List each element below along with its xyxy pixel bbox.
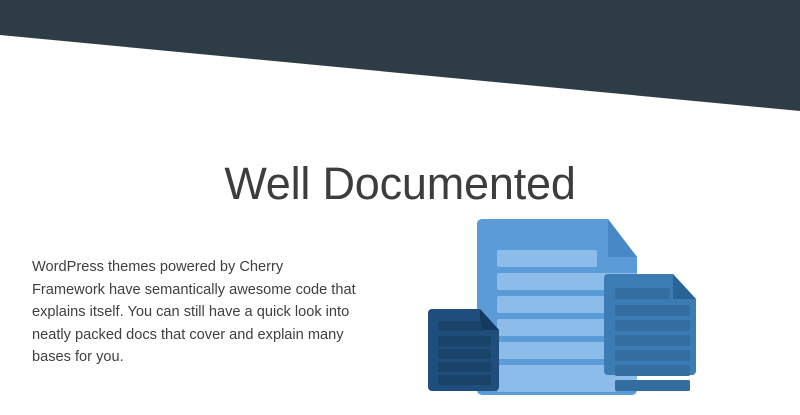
left-document-line: [438, 349, 491, 359]
banner-polygon: [0, 0, 800, 111]
right-document-line: [615, 365, 690, 376]
right-document: [604, 274, 696, 391]
left-document-line: [438, 362, 491, 372]
documents-illustration: [415, 210, 715, 415]
left-document-line: [438, 336, 491, 346]
main-document-fold-icon: [608, 219, 637, 257]
right-document-line: [615, 380, 690, 391]
page-title: Well Documented: [0, 158, 800, 210]
main-document-line: [497, 250, 597, 267]
angled-dark-banner: [0, 0, 800, 130]
body-paragraph: WordPress themes powered by Cherry Frame…: [32, 256, 358, 369]
right-document-line: [615, 305, 690, 316]
right-document-line: [615, 335, 690, 346]
left-document-line: [438, 375, 491, 385]
left-document: [428, 309, 499, 391]
page-root: Well Documented WordPress themes powered…: [0, 0, 800, 415]
main-document-line: [497, 380, 617, 392]
left-document-line: [438, 321, 482, 331]
right-document-line: [615, 320, 690, 331]
right-document-line: [615, 288, 670, 299]
documents-illustration-svg: [415, 210, 715, 415]
right-document-line: [615, 350, 690, 361]
banner-diagonal-shape: [0, 0, 800, 130]
right-document-fold-icon: [673, 274, 696, 299]
